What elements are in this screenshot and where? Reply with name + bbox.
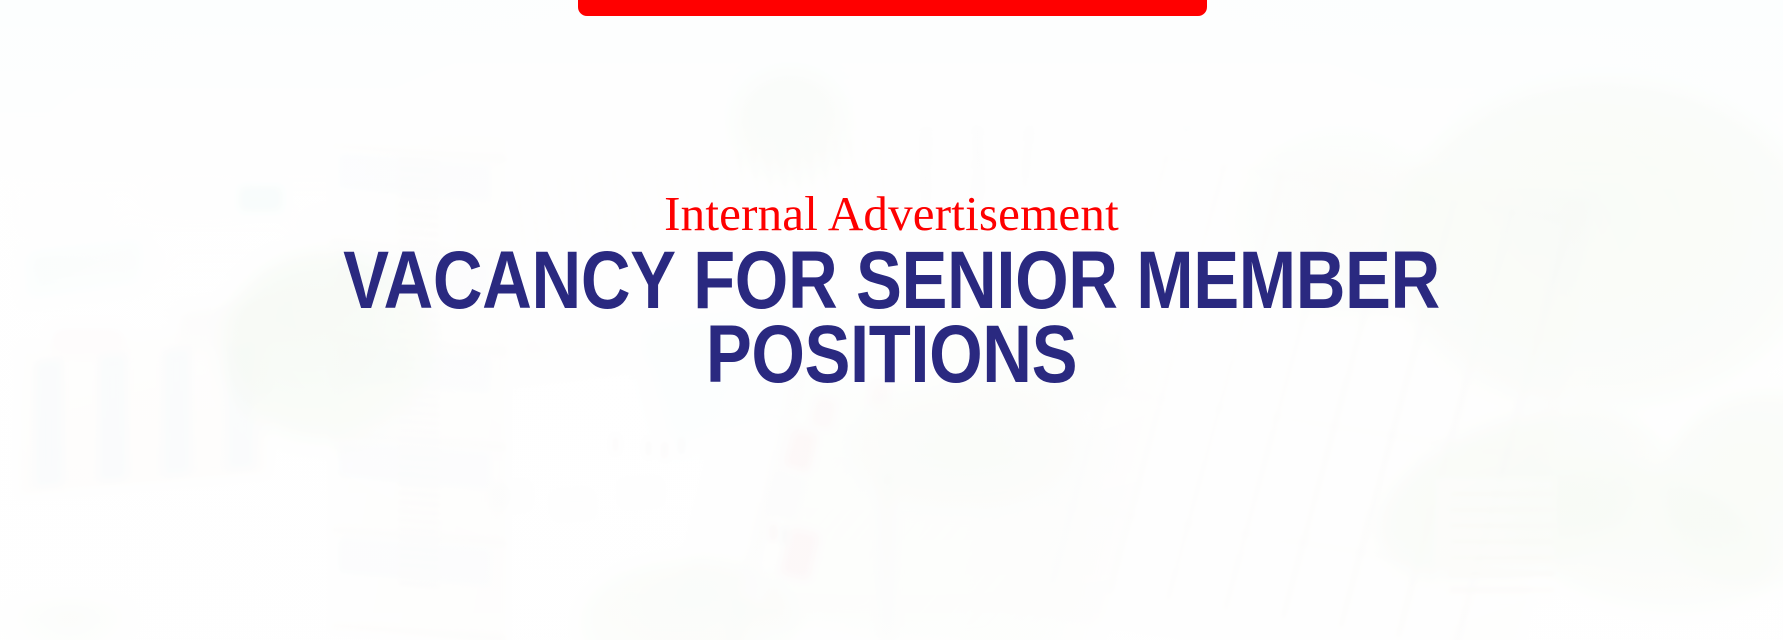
page-title-line-2: POSITIONS	[143, 318, 1641, 392]
banner-text-block: Internal Advertisement VACANCY FOR SENIO…	[0, 186, 1783, 392]
eyebrow-label: Internal Advertisement	[0, 186, 1783, 242]
page-title-line-1: VACANCY FOR SENIOR MEMBER	[143, 244, 1641, 318]
red-top-tab	[578, 0, 1207, 16]
vacancy-announcement-banner: Internal Advertisement VACANCY FOR SENIO…	[0, 0, 1783, 640]
page-title: VACANCY FOR SENIOR MEMBER POSITIONS	[143, 244, 1641, 392]
